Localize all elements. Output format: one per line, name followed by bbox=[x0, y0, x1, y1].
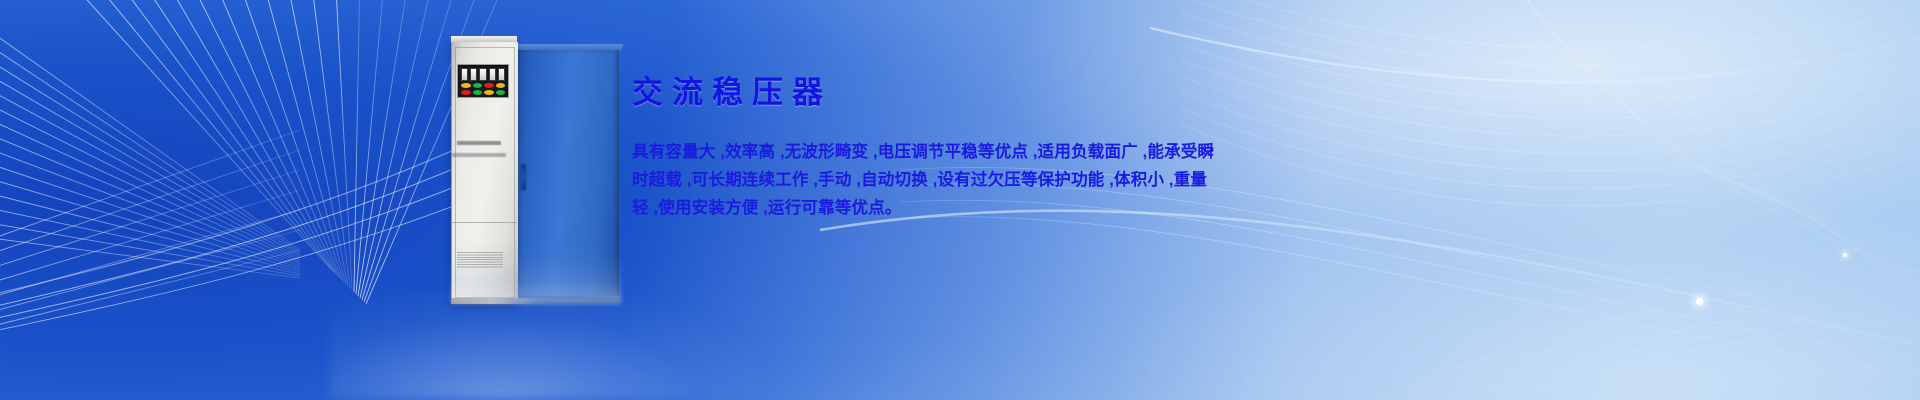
meter-window bbox=[479, 68, 486, 81]
lamp-row bbox=[461, 90, 505, 95]
description-line-3: 轻 ,使用安装方便 ,运行可靠等优点。 bbox=[632, 194, 1432, 222]
indicator-lamp bbox=[473, 83, 483, 88]
background-bottom-glow bbox=[1114, 208, 1920, 400]
product-banner: 交流稳压器 具有容量大 ,效率高 ,无波形畸变 ,电压调节平稳等优点 ,适用负载… bbox=[0, 0, 1920, 400]
indicator-lamp bbox=[461, 90, 471, 95]
banner-description: 具有容量大 ,效率高 ,无波形畸变 ,电压调节平稳等优点 ,适用负载面广 ,能承… bbox=[632, 138, 1432, 222]
product-indicator-lamps bbox=[461, 83, 505, 95]
sparkle-dot bbox=[1843, 253, 1847, 257]
banner-headline: 交流稳压器 bbox=[632, 76, 1472, 110]
indicator-lamp bbox=[484, 83, 494, 88]
product-door-seam bbox=[451, 222, 517, 223]
product-control-panel bbox=[457, 64, 509, 98]
product-meter-row bbox=[461, 68, 505, 81]
product-door-handle bbox=[521, 164, 526, 190]
indicator-lamp bbox=[496, 90, 506, 95]
product-floor-reflection bbox=[451, 242, 621, 304]
meter-window bbox=[498, 68, 505, 81]
indicator-lamp bbox=[473, 90, 483, 95]
lamp-row bbox=[461, 83, 505, 88]
product-description-label bbox=[452, 153, 506, 157]
meter-window bbox=[470, 68, 477, 81]
indicator-lamp bbox=[461, 83, 471, 88]
indicator-lamp bbox=[496, 83, 506, 88]
meter-window bbox=[489, 68, 496, 81]
banner-copy: 交流稳压器 具有容量大 ,效率高 ,无波形畸变 ,电压调节平稳等优点 ,适用负载… bbox=[632, 76, 1472, 222]
floor-glow bbox=[330, 290, 760, 400]
description-line-1: 具有容量大 ,效率高 ,无波形畸变 ,电压调节平稳等优点 ,适用负载面广 ,能承… bbox=[632, 138, 1432, 166]
description-line-2: 时超载 ,可长期连续工作 ,手动 ,自动切换 ,设有过欠压等保护功能 ,体积小 … bbox=[632, 166, 1432, 194]
meter-window bbox=[461, 68, 468, 81]
product-model-label bbox=[457, 141, 501, 145]
indicator-lamp bbox=[484, 90, 494, 95]
sparkle-dot bbox=[1696, 298, 1703, 305]
